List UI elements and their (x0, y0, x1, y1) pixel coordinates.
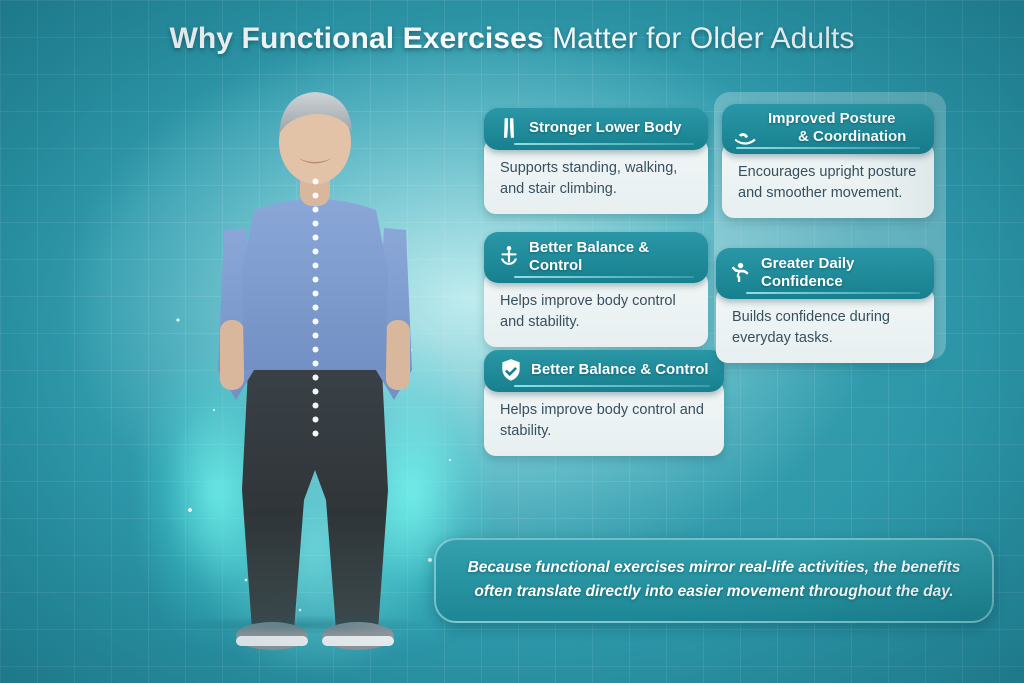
title-underline (514, 143, 694, 145)
card-title: Improved Posture & Coordination (732, 110, 922, 145)
balance-icon (496, 244, 522, 270)
floor-shadow (120, 612, 480, 638)
person-confidence-icon (728, 260, 754, 286)
card-greater-daily-confidence[interactable]: Greater Daily Confidence Builds confiden… (716, 248, 934, 363)
card-stronger-lower-body[interactable]: Stronger Lower Body Supports standing, w… (484, 108, 708, 214)
card-improved-posture-coordination[interactable]: Improved Posture & Coordination Encourag… (722, 104, 934, 218)
figure-illustration (150, 70, 480, 650)
card-header: Stronger Lower Body (484, 108, 708, 150)
card-better-balance-control-shield[interactable]: Better Balance & Control Helps improve b… (484, 350, 724, 456)
card-title: Better Balance & Control (529, 239, 694, 274)
posture-alignment-line (312, 178, 319, 443)
legs-icon (496, 115, 522, 141)
footer-summary-banner: Because functional exercises mirror real… (434, 538, 994, 623)
card-title: Greater Daily Confidence (761, 255, 920, 290)
card-title: Better Balance & Control (531, 361, 709, 379)
page-title: Why Functional Exercises Matter for Olde… (0, 22, 1024, 56)
page-title-strong: Why Functional Exercises (169, 22, 543, 55)
card-header: Improved Posture & Coordination (722, 104, 934, 154)
page-title-light: Matter for Older Adults (544, 22, 855, 55)
card-title-line2: & Coordination (732, 128, 922, 146)
title-underline (514, 385, 710, 387)
shield-check-icon (498, 357, 524, 383)
card-title: Stronger Lower Body (529, 119, 682, 137)
title-underline (736, 147, 920, 149)
card-header: Greater Daily Confidence (716, 248, 934, 299)
card-header: Better Balance & Control (484, 350, 724, 392)
infographic-canvas: Why Functional Exercises Matter for Olde… (0, 0, 1024, 683)
title-underline (746, 292, 920, 294)
card-better-balance-control[interactable]: Better Balance & Control Helps improve b… (484, 232, 708, 347)
card-header: Better Balance & Control (484, 232, 708, 283)
card-title-line1: Improved Posture (732, 110, 922, 128)
title-underline (514, 276, 694, 278)
